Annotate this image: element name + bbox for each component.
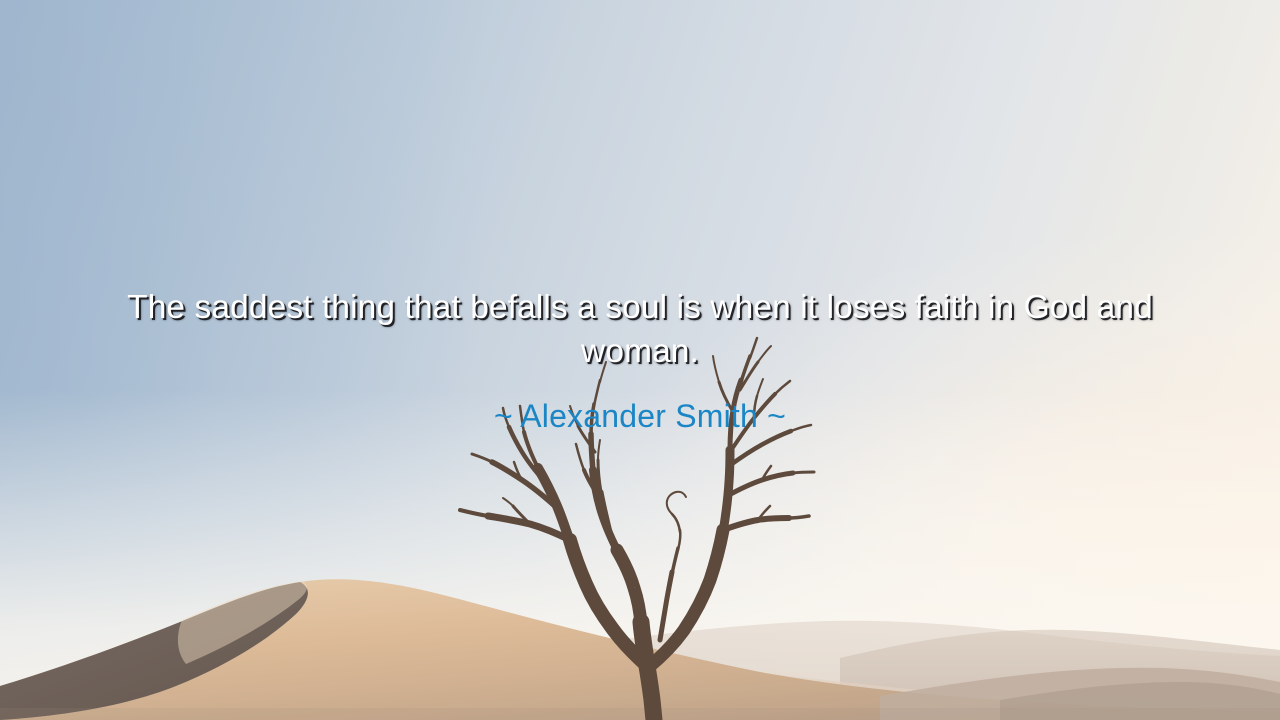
- quote-overlay: The saddest thing that befalls a soul is…: [110, 286, 1170, 435]
- quote-text: The saddest thing that befalls a soul is…: [110, 286, 1170, 374]
- quote-image-canvas: The saddest thing that befalls a soul is…: [0, 0, 1280, 720]
- quote-author: ~ Alexander Smith ~: [110, 397, 1170, 435]
